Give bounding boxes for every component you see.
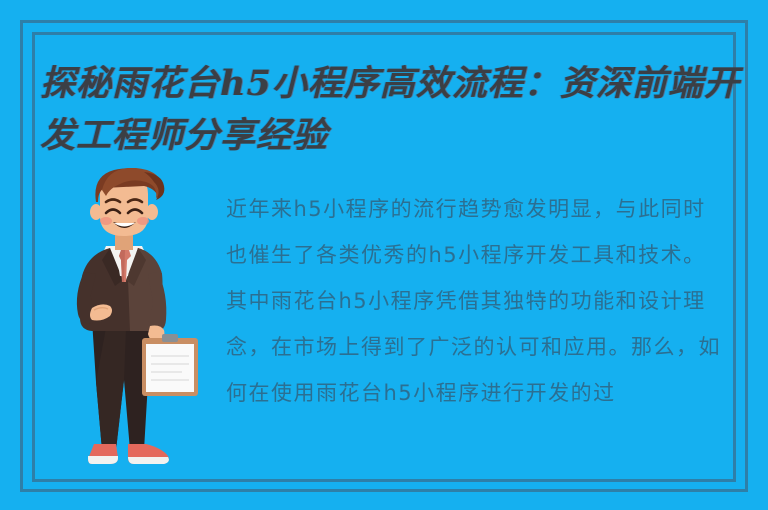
shoes-group [88,444,169,464]
page-title: 探秘雨花台h5小程序高效流程：资深前端开发工程师分享经验 [40,58,750,162]
businessman-illustration [58,168,208,498]
left-shoe-sole [88,456,118,464]
poster-canvas: 探秘雨花台h5小程序高效流程：资深前端开发工程师分享经验 近年来h5小程序的流行… [0,0,768,510]
head-group [90,168,164,236]
clipboard-clip-icon [162,334,178,342]
clipboard-group [142,334,198,396]
trousers-group [92,320,150,450]
body-paragraph: 近年来h5小程序的流行趋势愈发明显，与此同时也催生了各类优秀的h5小程序开发工具… [226,186,726,416]
right-shoe-sole [128,457,169,464]
clipboard-paper [146,344,194,392]
businessman-svg [58,168,208,498]
right-cheek-blush [137,217,149,225]
left-cheek-blush [100,217,112,225]
